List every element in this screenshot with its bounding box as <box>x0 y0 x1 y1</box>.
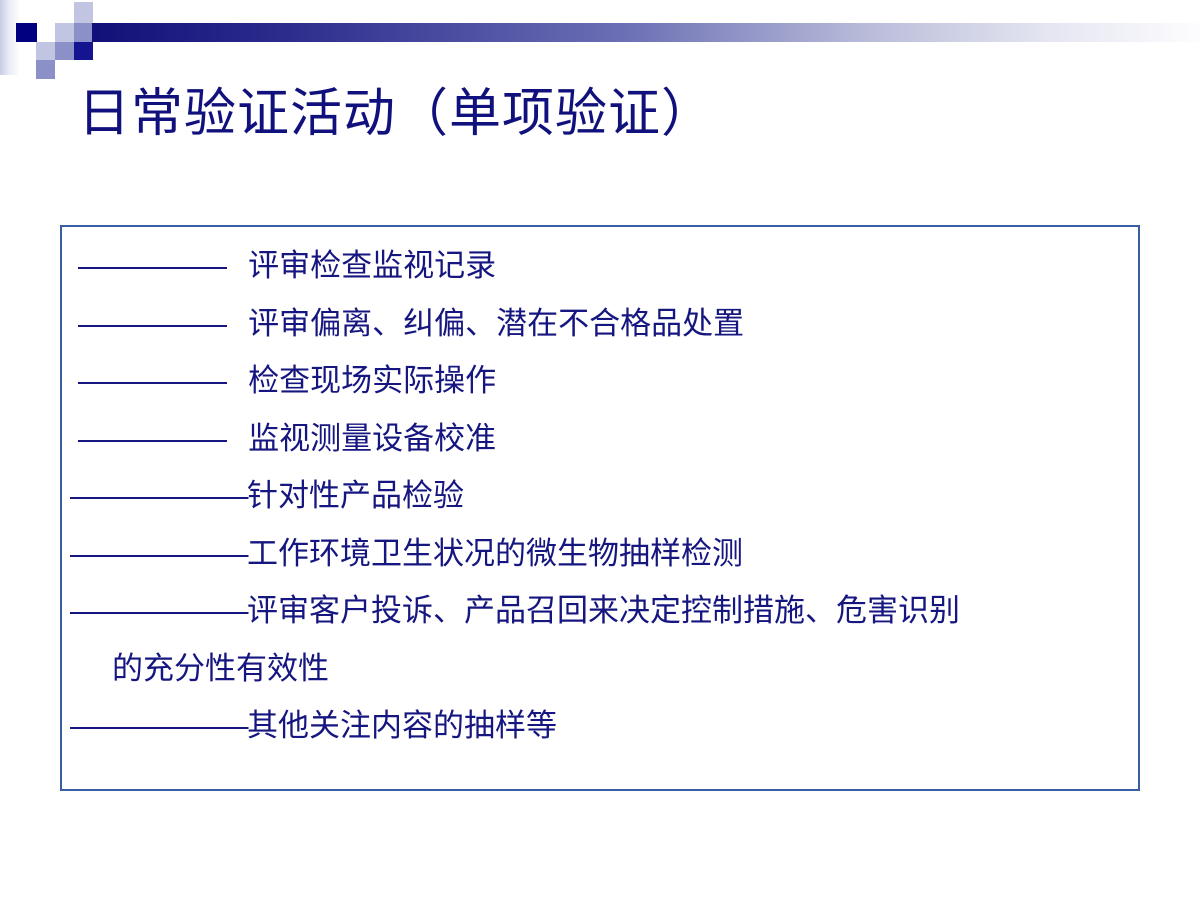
dash-prefix: —————— <box>70 536 247 571</box>
list-item: ——————针对性产品检验 <box>70 467 1130 525</box>
content-list: ————— 评审检查监视记录 ————— 评审偏离、纠偏、潜在不合格品处置 ——… <box>70 237 1130 755</box>
deco-square-dark <box>74 42 93 60</box>
list-item: ————— 检查现场实际操作 <box>70 352 1130 410</box>
header-gradient-bar <box>92 23 1200 42</box>
list-item-continuation: 的充分性有效性 <box>70 640 1130 698</box>
deco-square-light-2 <box>36 42 55 60</box>
dash-prefix: ————— <box>78 421 240 456</box>
list-item-label: 针对性产品检验 <box>247 478 464 513</box>
list-item-label: 的充分性有效性 <box>112 651 329 686</box>
list-item-label: 工作环境卫生状况的微生物抽样检测 <box>247 536 743 571</box>
dash-prefix: —————— <box>70 708 247 743</box>
deco-square-mid-2 <box>55 42 74 60</box>
deco-square-mid-3 <box>36 60 55 79</box>
dash-prefix: —————— <box>70 593 247 628</box>
content-box: ————— 评审检查监视记录 ————— 评审偏离、纠偏、潜在不合格品处置 ——… <box>60 225 1140 791</box>
list-item: ————— 评审偏离、纠偏、潜在不合格品处置 <box>70 295 1130 353</box>
header-decoration <box>0 0 1200 80</box>
list-item-label: 评审检查监视记录 <box>240 248 497 283</box>
list-item: ————— 监视测量设备校准 <box>70 410 1130 468</box>
list-item: ————— 评审检查监视记录 <box>70 237 1130 295</box>
deco-square-mid-1 <box>74 23 93 42</box>
page-title: 日常验证活动（单项验证） <box>78 82 1138 146</box>
deco-square-top <box>74 2 93 23</box>
list-item: ——————其他关注内容的抽样等 <box>70 697 1130 755</box>
list-item-label: 检查现场实际操作 <box>240 363 497 398</box>
list-item: ——————工作环境卫生状况的微生物抽样检测 <box>70 525 1130 583</box>
list-item-label: 评审偏离、纠偏、潜在不合格品处置 <box>240 306 745 341</box>
dash-prefix: ————— <box>78 248 240 283</box>
dash-prefix: ————— <box>78 363 240 398</box>
deco-square-navy <box>16 23 37 42</box>
list-item-label: 其他关注内容的抽样等 <box>247 708 557 743</box>
dash-prefix: ————— <box>78 306 240 341</box>
list-item-label: 评审客户投诉、产品召回来决定控制措施、危害识别 <box>247 593 960 628</box>
list-item-label: 监视测量设备校准 <box>240 421 497 456</box>
list-item: ——————评审客户投诉、产品召回来决定控制措施、危害识别 <box>70 582 1130 640</box>
dash-prefix: —————— <box>70 478 247 513</box>
deco-square-light-1 <box>55 23 74 42</box>
